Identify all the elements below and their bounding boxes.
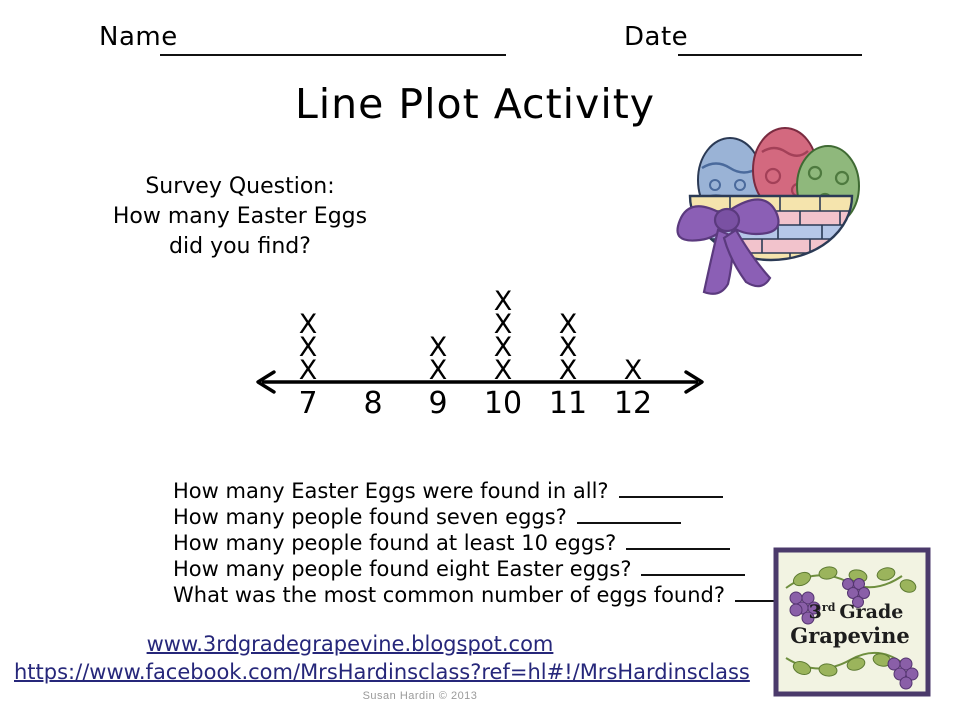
answer-blank[interactable] — [626, 532, 730, 550]
x-stack-12: X — [613, 359, 653, 382]
plot-mark: X — [548, 359, 588, 382]
plot-mark: X — [288, 359, 328, 382]
blog-link[interactable]: www.3rdgradegrapevine.blogspot.com — [0, 632, 700, 656]
x-stack-10: XXXX — [483, 290, 523, 382]
name-blank-line[interactable] — [160, 54, 506, 56]
survey-question-line-2: How many Easter Eggs — [95, 202, 385, 232]
answer-blank[interactable] — [641, 558, 745, 576]
tick-label-9: 9 — [418, 386, 458, 421]
worksheet-page: Name Date Line Plot Activity Survey Ques… — [0, 0, 960, 720]
tick-label-11: 11 — [548, 386, 588, 421]
question-row: How many Easter Eggs were found in all? — [173, 479, 793, 505]
survey-question: Survey Question: How many Easter Eggs di… — [95, 172, 385, 262]
tick-label-10: 10 — [483, 386, 523, 421]
header-row: Name Date — [0, 22, 960, 62]
question-text: How many Easter Eggs were found in all? — [173, 479, 609, 503]
facebook-link[interactable]: https://www.facebook.com/MrsHardinsclass… — [14, 660, 750, 684]
tick-label-8: 8 — [353, 386, 393, 421]
x-stack-9: XX — [418, 336, 458, 382]
question-row: How many people found at least 10 eggs? — [173, 531, 793, 557]
x-stack-7: XXX — [288, 313, 328, 382]
question-text: What was the most common number of eggs … — [173, 583, 725, 607]
question-row: How many people found seven eggs? — [173, 505, 793, 531]
grapevine-logo-icon: 3rdGrade Grapevine — [772, 546, 932, 698]
answer-blank[interactable] — [619, 480, 723, 498]
x-stack-11: XXX — [548, 313, 588, 382]
questions-list: How many Easter Eggs were found in all?H… — [173, 479, 793, 609]
plot-mark: X — [483, 359, 523, 382]
question-row: What was the most common number of eggs … — [173, 583, 793, 609]
line-plot-chart: XXX XX XXXX XXX X 7 8 9 10 11 12 — [240, 255, 720, 430]
survey-question-line-1: Survey Question: — [95, 172, 385, 202]
question-text: How many people found at least 10 eggs? — [173, 531, 616, 555]
logo-grade-number: 3 — [809, 601, 822, 623]
plot-mark: X — [613, 359, 653, 382]
name-label: Name — [99, 22, 178, 52]
date-blank-line[interactable] — [678, 54, 862, 56]
answer-blank[interactable] — [577, 506, 681, 524]
question-text: How many people found seven eggs? — [173, 505, 567, 529]
date-label: Date — [624, 22, 688, 52]
tick-label-7: 7 — [288, 386, 328, 421]
grapevine-logo: 3rdGrade Grapevine — [772, 546, 932, 698]
logo-line-2: Grapevine — [790, 623, 909, 648]
question-text: How many people found eight Easter eggs? — [173, 557, 631, 581]
tick-label-12: 12 — [613, 386, 653, 421]
plot-mark: X — [418, 359, 458, 382]
question-row: How many people found eight Easter eggs? — [173, 557, 793, 583]
